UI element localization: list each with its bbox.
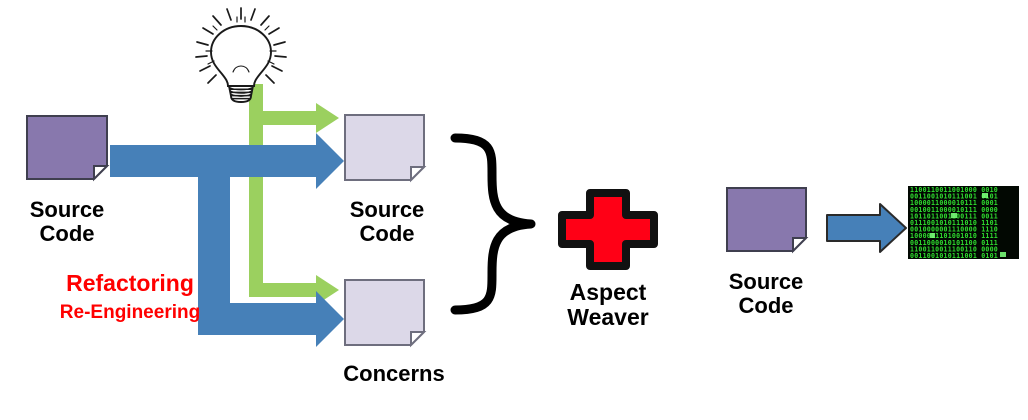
document-concerns[interactable] [345,280,424,345]
svg-text:0011001010111001 0101: 0011001010111001 0101 [910,252,998,260]
green-fork-connector [249,84,339,305]
label-source-code-input: Source Code [30,198,105,245]
label-refactoring: Refactoring [66,271,194,296]
label-aspect-weaver: Aspect Weaver [567,280,648,329]
label-concerns: Concerns [343,362,444,386]
label-source-code-woven: Source Code [729,270,804,317]
document-source-code-output[interactable] [345,115,424,180]
label-re-engineering: Re-Engineering [60,303,200,323]
label-aspect-weaver-line2: Weaver [567,305,648,330]
label-source-code-woven-line2: Code [729,294,804,318]
binary-matrix-image: 1100110011001000 0010 0011001010111001 0… [908,186,1019,260]
document-source-code-input[interactable] [27,116,107,179]
grouping-brace [455,138,531,310]
label-source-code-input-line1: Source [30,198,105,222]
aspect-weaver-cross-icon[interactable] [562,193,654,266]
label-source-code-output-line2: Code [350,222,425,246]
label-aspect-weaver-line1: Aspect [567,280,648,305]
label-source-code-output-line1: Source [350,198,425,222]
diagram-graphics: 1100110011001000 0010 0011001010111001 0… [0,0,1028,420]
diagram-canvas: 1100110011001000 0010 0011001010111001 0… [0,0,1028,420]
label-source-code-input-line2: Code [30,222,105,246]
lightbulb-icon [196,8,286,102]
label-source-code-woven-line1: Source [729,270,804,294]
document-source-code-woven[interactable] [727,188,806,251]
label-source-code-output: Source Code [350,198,425,245]
compile-arrow [827,204,906,252]
